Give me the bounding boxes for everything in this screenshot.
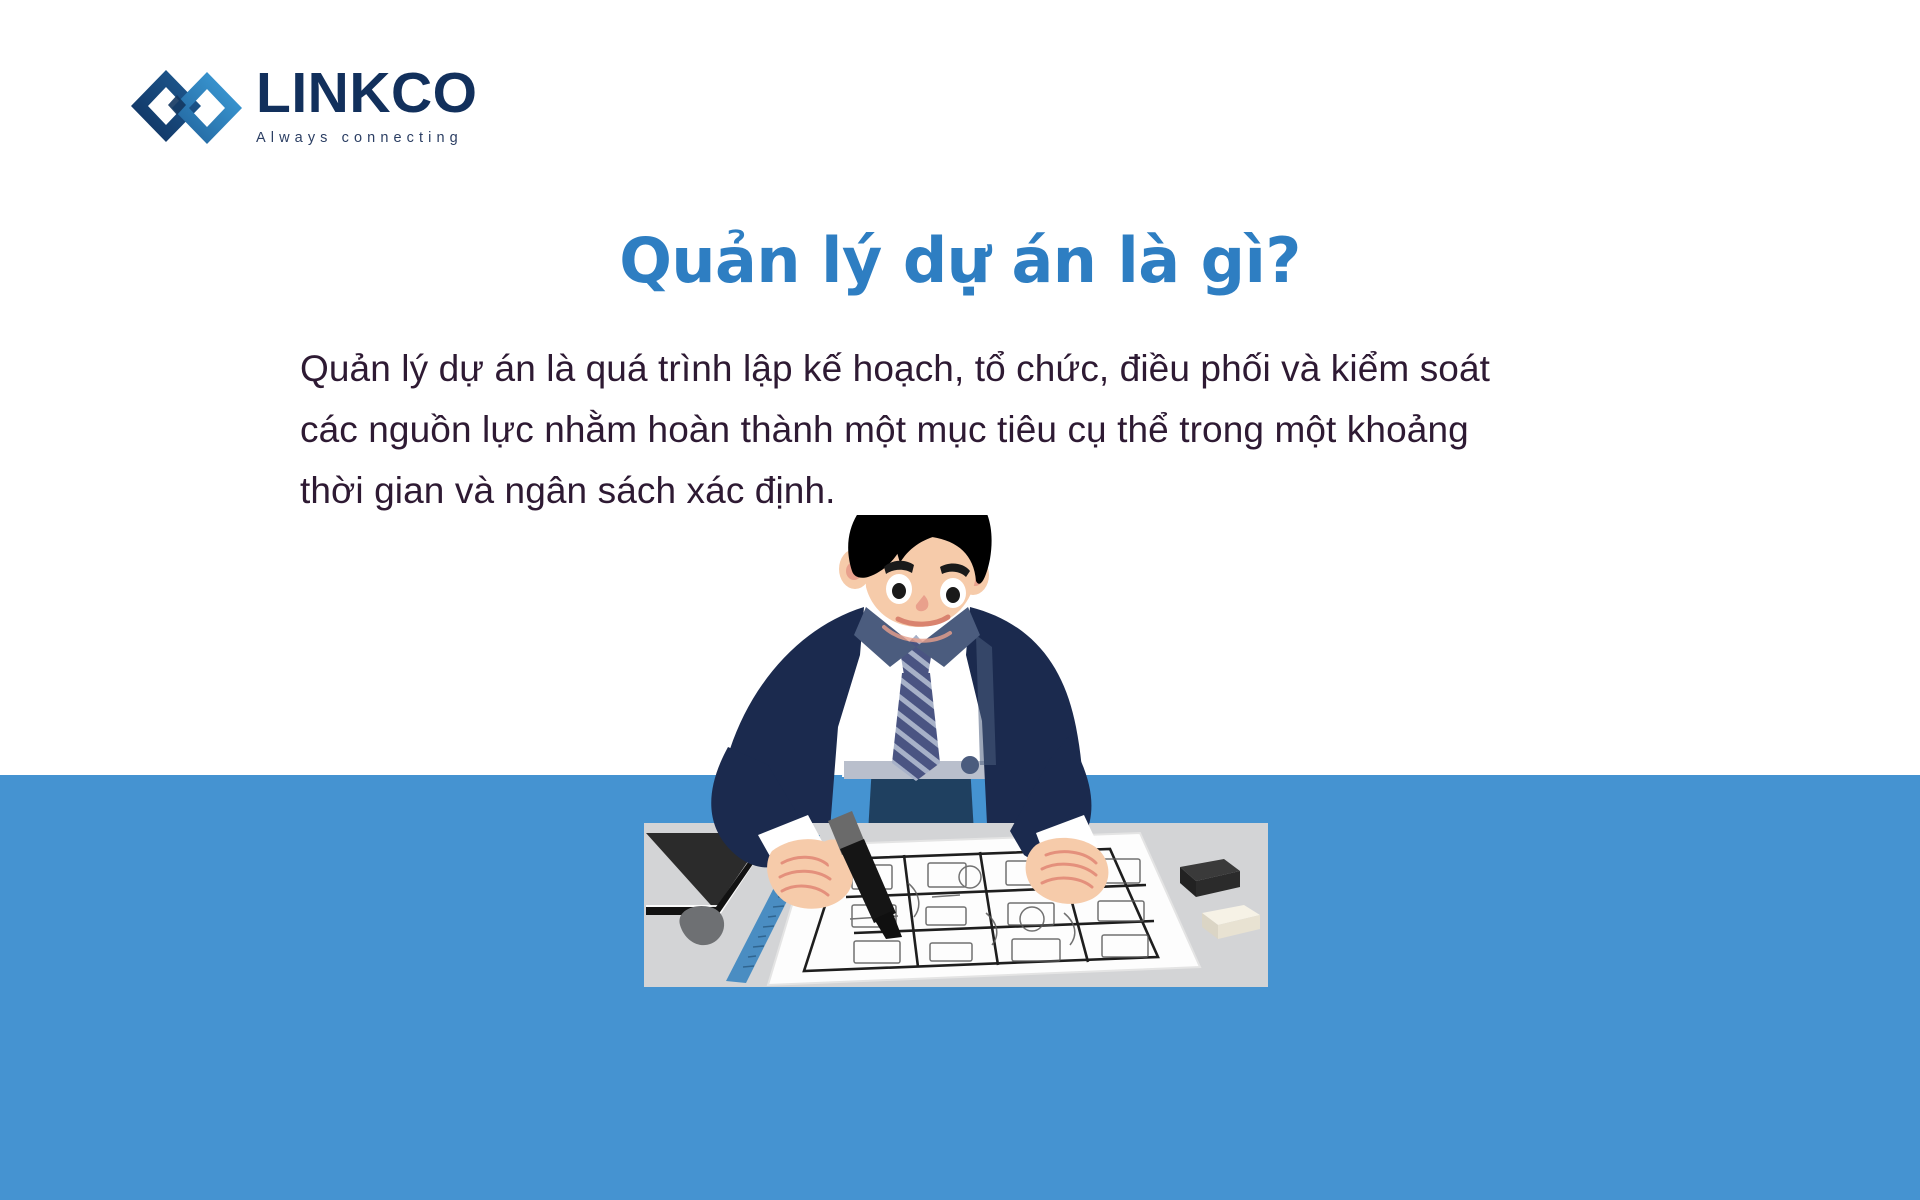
body-line-1: Quản lý dự án là quá trình lập kế hoạch,…: [300, 338, 1660, 399]
interlocking-diamonds-icon: [128, 68, 246, 146]
businessman-blueprint-illustration: [640, 515, 1280, 1095]
logo-text-block: LINKCO Always connecting: [256, 62, 506, 148]
logo-wordmark: LINKCO: [256, 62, 506, 124]
page-title: Quản lý dự án là gì?: [0, 222, 1920, 300]
body-line-3: thời gian và ngân sách xác định.: [300, 460, 1660, 521]
brand-logo[interactable]: LINKCO Always connecting: [128, 62, 508, 154]
body-paragraph: Quản lý dự án là quá trình lập kế hoạch,…: [300, 338, 1660, 521]
logo-tagline: Always connecting: [256, 128, 506, 148]
body-line-2: các nguồn lực nhằm hoàn thành một mục ti…: [300, 399, 1660, 460]
slide-canvas: LINKCO Always connecting Quản lý dự án l…: [0, 0, 1920, 1200]
